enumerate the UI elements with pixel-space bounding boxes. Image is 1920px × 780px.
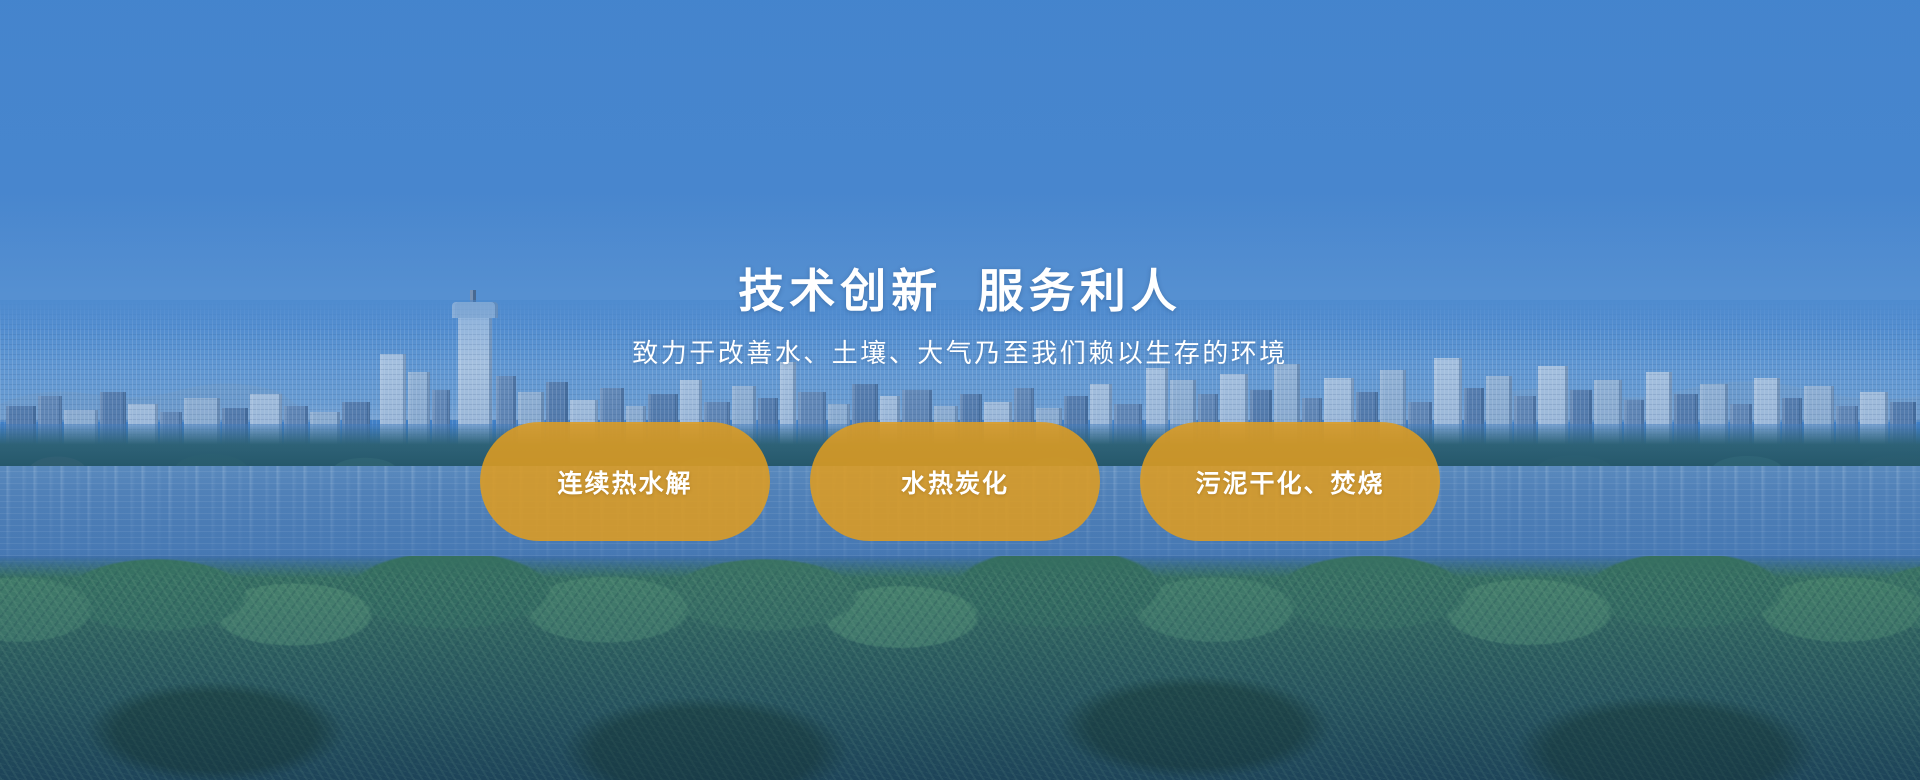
hero-content: 技术创新 服务利人 致力于改善水、土壤、大气乃至我们赖以生存的环境 连续热水解 … (0, 0, 1920, 780)
cta-button-row: 连续热水解 水热炭化 污泥干化、焚烧 (480, 422, 1440, 541)
page-title: 技术创新 服务利人 (738, 268, 1182, 314)
hero-subtitle: 致力于改善水、土壤、大气乃至我们赖以生存的环境 (632, 340, 1288, 366)
cta-button-hydrothermal-carbonization[interactable]: 水热炭化 (810, 422, 1100, 541)
hero-banner: 技术创新 服务利人 致力于改善水、土壤、大气乃至我们赖以生存的环境 连续热水解 … (0, 0, 1920, 780)
cta-button-sludge-drying-incineration[interactable]: 污泥干化、焚烧 (1140, 422, 1440, 541)
cta-button-continuous-thermal-hydrolysis[interactable]: 连续热水解 (480, 422, 770, 541)
